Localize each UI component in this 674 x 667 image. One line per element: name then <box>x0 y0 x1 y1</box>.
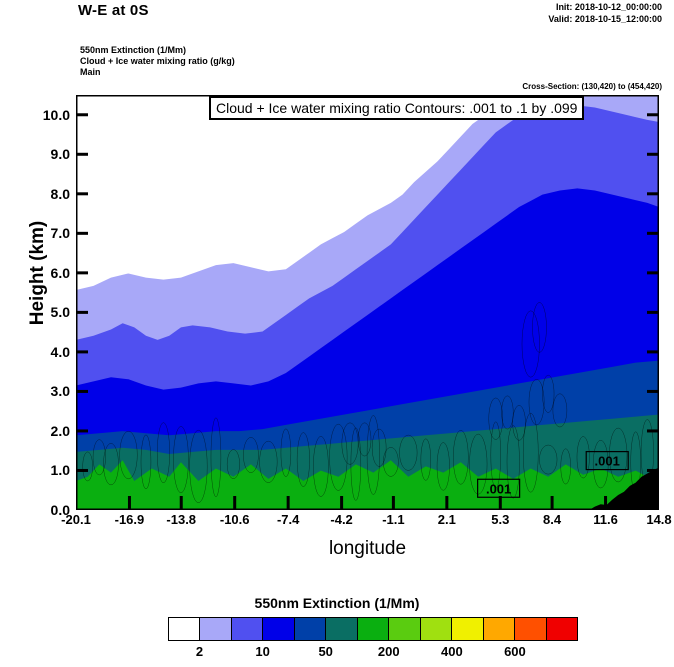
run-info-block: Init: 2018-10-12_00:00:00 Valid: 2018-10… <box>548 1 662 25</box>
y-tick-label: 3.0 <box>24 383 70 399</box>
colorbar-swatch[interactable] <box>389 618 420 640</box>
plot-frame <box>77 96 659 510</box>
y-tick-label: 5.0 <box>24 304 70 320</box>
x-tick-label: 2.1 <box>417 512 477 527</box>
colorbar-swatch[interactable] <box>232 618 263 640</box>
x-tick-label: -20.1 <box>46 512 106 527</box>
x-tick-label: -7.4 <box>258 512 318 527</box>
x-tick-label: -1.1 <box>363 512 423 527</box>
init-time: Init: 2018-10-12_00:00:00 <box>548 1 662 13</box>
x-tick-label: 14.8 <box>629 512 674 527</box>
cross-section-endpoints: Cross-Section: (130,420) to (454,420) <box>522 82 662 91</box>
colorbar-tick-label: 200 <box>366 644 412 659</box>
contour-label-text: .001 <box>486 481 511 496</box>
colorbar-swatch[interactable] <box>547 618 577 640</box>
x-tick-label: 8.4 <box>522 512 582 527</box>
colorbar-swatch[interactable] <box>484 618 515 640</box>
colorbar-swatch[interactable] <box>169 618 200 640</box>
y-tick-label: 1.0 <box>24 462 70 478</box>
y-tick-label: 4.0 <box>24 344 70 360</box>
axis-tickmarks <box>76 115 659 510</box>
x-tick-label: -13.8 <box>151 512 211 527</box>
x-tick-label: -10.6 <box>205 512 265 527</box>
colorbar-tick-label: 400 <box>429 644 475 659</box>
colorbar[interactable] <box>168 617 578 641</box>
contour-label-overlay: .001.001 <box>76 95 659 510</box>
colorbar-swatch[interactable] <box>263 618 294 640</box>
colorbar-swatch[interactable] <box>358 618 389 640</box>
y-tick-label: 10.0 <box>24 107 70 123</box>
cross-section-plot: .001.001 <box>76 95 659 510</box>
colorbar-tick-label: 50 <box>303 644 349 659</box>
field-contour-label: Cloud + Ice water mixing ratio (g/kg) <box>80 56 235 67</box>
y-tick-label: 2.0 <box>24 423 70 439</box>
colorbar-swatch[interactable] <box>515 618 546 640</box>
valid-time: Valid: 2018-10-15_12:00:00 <box>548 13 662 25</box>
field-shaded-label: 550nm Extinction (1/Mm) <box>80 45 235 56</box>
colorbar-tick-label: 2 <box>177 644 223 659</box>
field-domain-label: Main <box>80 67 235 78</box>
colorbar-tick-label: 10 <box>240 644 286 659</box>
colorbar-swatch[interactable] <box>295 618 326 640</box>
contour-title-box: Cloud + Ice water mixing ratio Contours:… <box>209 96 584 120</box>
x-tick-label: 11.6 <box>576 512 636 527</box>
colorbar-swatch[interactable] <box>421 618 452 640</box>
colorbar-title: 550nm Extinction (1/Mm) <box>0 595 674 611</box>
y-tick-label: 7.0 <box>24 225 70 241</box>
y-tick-label: 8.0 <box>24 186 70 202</box>
contour-label-text: .001 <box>595 454 620 469</box>
colorbar-swatch[interactable] <box>200 618 231 640</box>
page-title: W-E at 0S <box>78 2 149 19</box>
colorbar-swatch[interactable] <box>452 618 483 640</box>
y-tick-label: 9.0 <box>24 146 70 162</box>
colorbar-tick-label: 600 <box>492 644 538 659</box>
y-tick-label: 6.0 <box>24 265 70 281</box>
colorbar-tick-labels: 21050200400600 <box>168 644 578 664</box>
contour-title-text: Cloud + Ice water mixing ratio Contours:… <box>216 100 577 116</box>
x-axis-ticks: -20.1-16.9-13.8-10.6-7.4-4.2-1.12.15.38.… <box>76 512 659 534</box>
field-description-block: 550nm Extinction (1/Mm) Cloud + Ice wate… <box>80 45 235 78</box>
y-axis-ticks: 10.09.08.07.06.05.04.03.02.01.00.0 <box>16 95 70 510</box>
x-axis-label: longitude <box>76 538 659 560</box>
colorbar-swatch[interactable] <box>326 618 357 640</box>
